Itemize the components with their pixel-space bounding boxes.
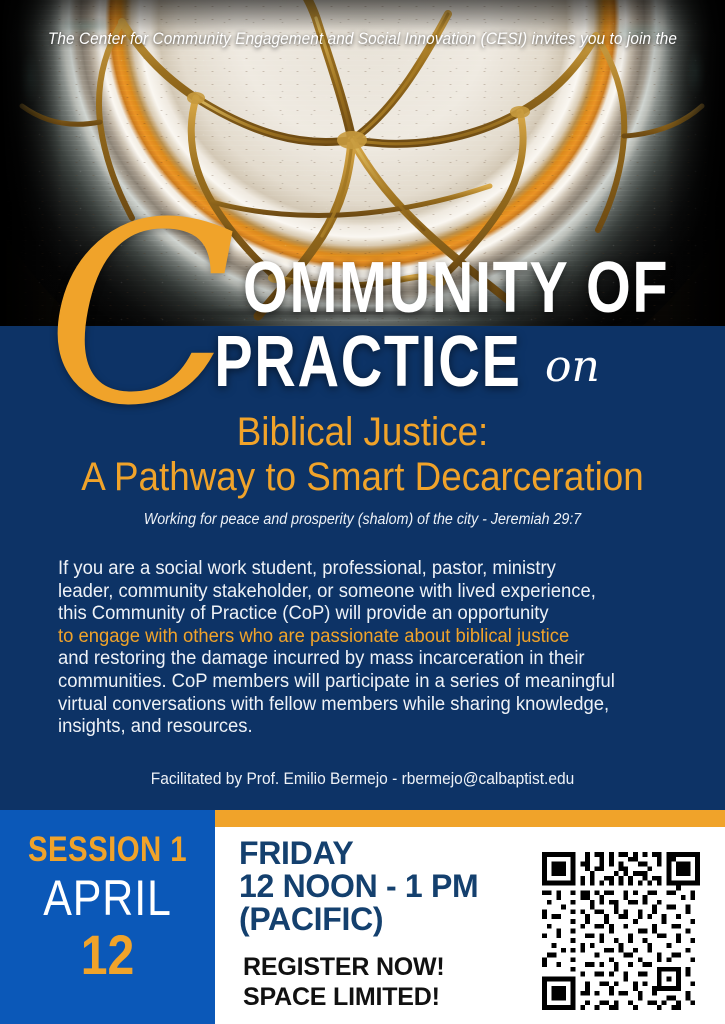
body-line-4-highlight: to engage with others who are passionate… [58, 626, 652, 649]
session-month: APRIL [15, 872, 200, 924]
qr-code-image[interactable] [542, 852, 700, 1010]
body-copy: If you are a social work student, profes… [58, 558, 652, 739]
body-line-2: leader, community stakeholder, or someon… [58, 581, 652, 604]
event-timezone: (PACIFIC) [239, 903, 539, 936]
subtitle-line-2: A Pathway to Smart Decarceration [29, 455, 696, 499]
event-time-block: FRIDAY 12 NOON - 1 PM (PACIFIC) [239, 837, 539, 936]
kicker-text: The Center for Community Engagement and … [25, 30, 699, 49]
qr-code[interactable] [542, 852, 700, 1010]
body-line-6: communities. CoP members will participat… [58, 671, 652, 694]
event-time: 12 NOON - 1 PM [239, 870, 539, 903]
body-line-5: and restoring the damage incurred by mas… [58, 648, 652, 671]
event-day-of-week: FRIDAY [239, 837, 539, 870]
title-block: C OMMUNITY OF PRACTICE on [0, 196, 725, 411]
body-line-7: virtual conversations with fellow member… [58, 694, 652, 717]
session-day: 12 [15, 926, 200, 984]
subtitle-line-1: Biblical Justice: [29, 410, 696, 454]
session-panel: SESSION 1 APRIL 12 [0, 810, 215, 1024]
session-label: SESSION 1 [17, 832, 198, 868]
cta-register-now: REGISTER NOW! [243, 952, 573, 982]
title-connector-on: on [545, 341, 600, 392]
body-line-1: If you are a social work student, profes… [58, 558, 652, 581]
cta-space-limited: SPACE LIMITED! [243, 982, 573, 1012]
scripture-verse: Working for peace and prosperity (shalom… [29, 511, 696, 529]
poster: The Center for Community Engagement and … [0, 0, 725, 1024]
title-line-1: OMMUNITY OF [83, 252, 725, 324]
body-line-3: this Community of Practice (CoP) will pr… [58, 603, 652, 626]
cta-block: REGISTER NOW! SPACE LIMITED! [243, 952, 573, 1012]
body-line-8: insights, and resources. [58, 716, 652, 739]
gold-accent-bar [215, 810, 725, 827]
facilitator-line: Facilitated by Prof. Emilio Bermejo - rb… [22, 770, 704, 789]
